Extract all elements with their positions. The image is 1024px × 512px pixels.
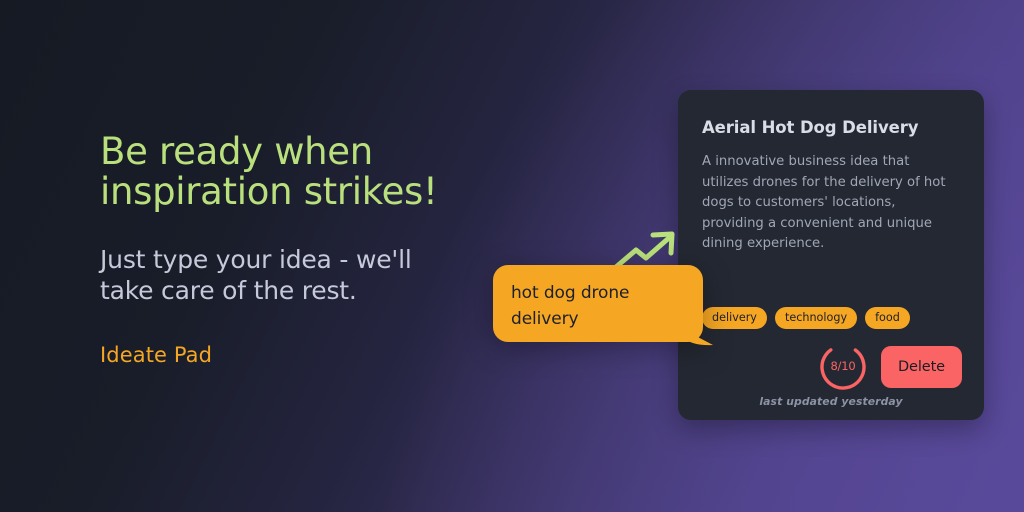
hero-subheading: Just type your idea - we'll take care of… bbox=[100, 244, 480, 306]
app-canvas: Be ready when inspiration strikes! Just … bbox=[0, 0, 1024, 512]
tag-chip[interactable]: technology bbox=[775, 307, 857, 329]
hero-copy: Be ready when inspiration strikes! Just … bbox=[100, 132, 480, 367]
score-value: 8/10 bbox=[830, 361, 855, 373]
tag-list: delivery technology food bbox=[702, 307, 910, 329]
delete-button[interactable]: Delete bbox=[881, 346, 962, 388]
idea-description: A innovative business idea that utilizes… bbox=[702, 152, 950, 255]
idea-input-field[interactable]: hot dog drone delivery bbox=[493, 265, 703, 342]
idea-card[interactable]: Aerial Hot Dog Delivery A innovative bus… bbox=[678, 90, 984, 420]
idea-title: Aerial Hot Dog Delivery bbox=[702, 118, 960, 138]
page-title: Be ready when inspiration strikes! bbox=[100, 132, 480, 212]
idea-input-value: hot dog drone delivery bbox=[511, 280, 685, 332]
card-actions: 8/10 Delete bbox=[818, 342, 962, 392]
idea-input-bubble[interactable]: hot dog drone delivery bbox=[493, 265, 721, 347]
tag-chip[interactable]: food bbox=[865, 307, 910, 329]
last-updated-label: last updated yesterday bbox=[678, 395, 984, 408]
brand-name: Ideate Pad bbox=[100, 343, 480, 367]
score-ring: 8/10 bbox=[818, 342, 868, 392]
